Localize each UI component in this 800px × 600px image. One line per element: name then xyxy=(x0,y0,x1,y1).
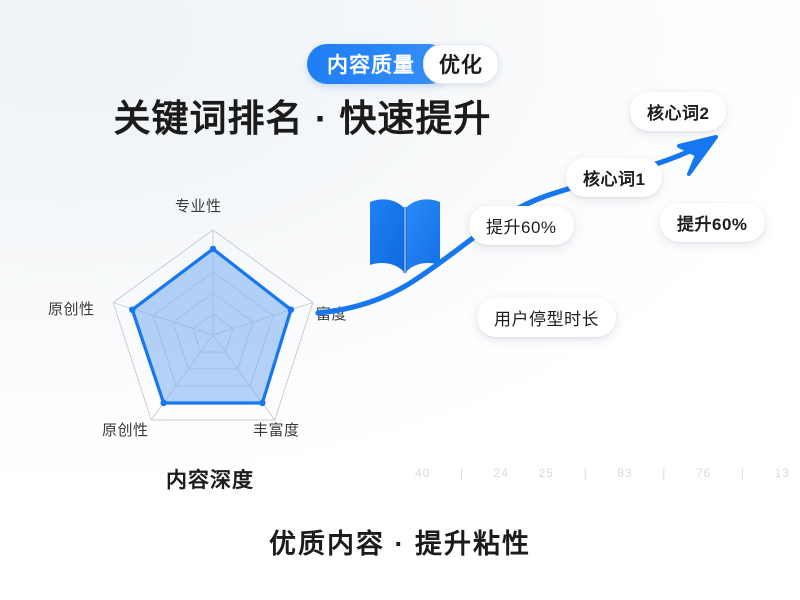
footer-title: 优质内容 · 提升粘性 xyxy=(0,522,800,561)
radar-data-polygon xyxy=(132,249,291,403)
scale-tick: 25 xyxy=(539,466,554,480)
scale-tick: | xyxy=(741,466,745,480)
radar-label-originality-left: 原创性 xyxy=(48,298,95,319)
pill-keyword-2[interactable]: 核心词2 xyxy=(630,92,726,131)
slide-canvas: 内容质量 优化 关键词排名 · 快速提升 xyxy=(0,0,800,600)
radar-label-professional: 专业性 xyxy=(175,195,222,216)
pill-keyword-1[interactable]: 核心词1 xyxy=(566,158,662,197)
radar-label-abundance: 丰富度 xyxy=(253,419,300,440)
scale-tick: 40 xyxy=(415,466,430,480)
scale-tick: | xyxy=(584,466,588,480)
scale-tick: 76 xyxy=(696,466,711,480)
pill-boost-right[interactable]: 提升60% xyxy=(660,203,765,242)
pill-boost-left[interactable]: 提升60% xyxy=(469,206,574,245)
scale-strip: 40 | 24 25 | 83 | 76 | 13 xyxy=(415,466,790,480)
badge-group: 内容质量 优化 xyxy=(307,44,499,84)
scale-tick: 83 xyxy=(617,466,632,480)
pill-user-duration[interactable]: 用户停型时长 xyxy=(477,298,616,337)
scale-tick: 13 xyxy=(775,466,790,480)
radar-chart-svg xyxy=(40,185,390,465)
open-book-icon xyxy=(364,186,446,278)
radar-label-originality-bottom: 原创性 xyxy=(102,419,149,440)
scale-tick: | xyxy=(662,466,666,480)
badge-secondary: 优化 xyxy=(423,44,499,84)
radar-label-richness: 富度 xyxy=(316,303,347,324)
scale-tick: | xyxy=(460,466,464,480)
scale-tick: 24 xyxy=(494,466,509,480)
radar-chart: 专业性 富度 丰富度 原创性 原创性 xyxy=(40,185,390,465)
content-depth-label: 内容深度 xyxy=(166,464,254,494)
